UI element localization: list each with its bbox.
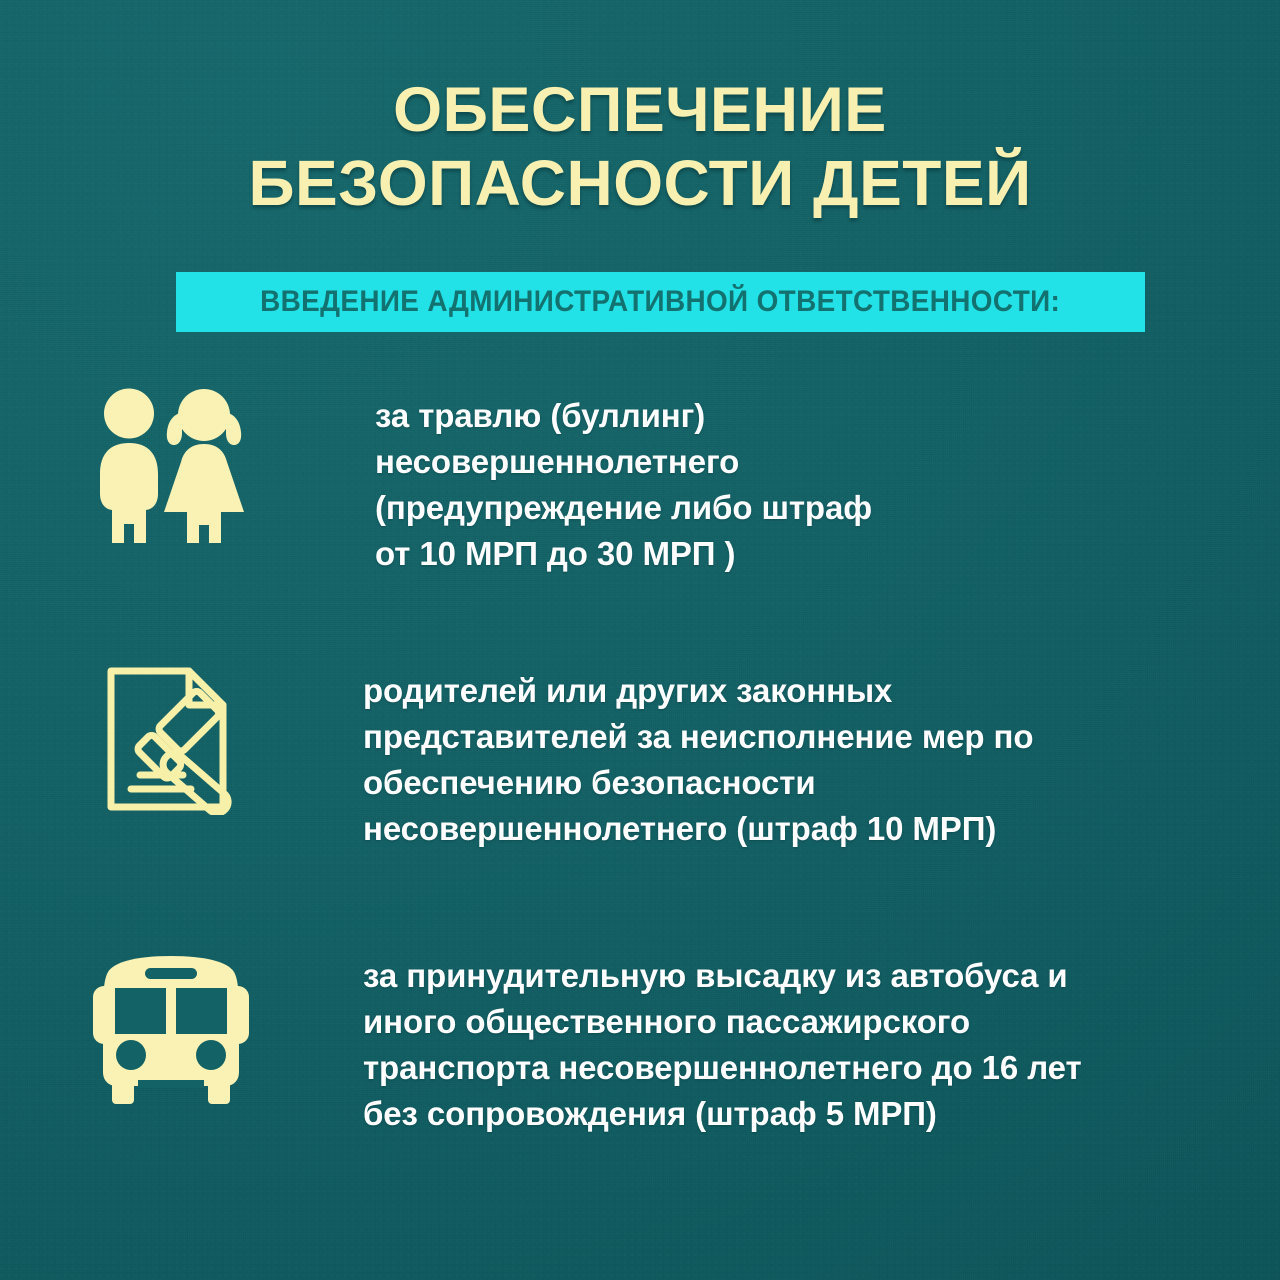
section-banner-label: ВВЕДЕНИЕ АДМИНИСТРАТИВНОЙ ОТВЕТСТВЕННОСТ… xyxy=(260,285,1060,319)
item-1-line-3: (предупреждение либо штраф xyxy=(375,485,872,531)
page-title-line-1: ОБЕСПЕЧЕНИЕ xyxy=(0,74,1280,147)
item-3-line-1: за принудительную высадку из автобуса и xyxy=(363,953,1082,999)
item-2-line-2: представителей за неисполнение мер по xyxy=(363,714,1033,760)
item-3-line-3: транспорта несовершеннолетнего до 16 лет xyxy=(363,1045,1082,1091)
section-banner: ВВЕДЕНИЕ АДМИНИСТРАТИВНОЙ ОТВЕТСТВЕННОСТ… xyxy=(176,272,1145,332)
page-title: ОБЕСПЕЧЕНИЕ БЕЗОПАСНОСТИ ДЕТЕЙ xyxy=(0,74,1280,220)
item-3-line-4: без сопровождения (штраф 5 МРП) xyxy=(363,1091,1082,1137)
page-title-line-2: БЕЗОПАСНОСТИ ДЕТЕЙ xyxy=(0,147,1280,220)
children-boy-girl-icon xyxy=(92,388,254,549)
item-2-line-3: обеспечению безопасности xyxy=(363,760,1033,806)
item-3-text: за принудительную высадку из автобуса и … xyxy=(363,953,1082,1137)
item-1-line-4: от 10 МРП до 30 МРП ) xyxy=(375,531,872,577)
item-3-line-2: иного общественного пассажирского xyxy=(363,999,1082,1045)
poster-canvas: ОБЕСПЕЧЕНИЕ БЕЗОПАСНОСТИ ДЕТЕЙ ВВЕДЕНИЕ … xyxy=(0,0,1280,1280)
document-gavel-icon xyxy=(103,663,253,820)
item-1-line-1: за травлю (буллинг) xyxy=(375,393,872,439)
item-2-text: родителей или других законных представит… xyxy=(363,668,1033,852)
item-1-text: за травлю (буллинг) несовершеннолетнего … xyxy=(375,393,872,577)
bus-front-icon xyxy=(90,952,252,1109)
item-2-line-4: несовершеннолетнего (штраф 10 МРП) xyxy=(363,806,1033,852)
item-1-line-2: несовершеннолетнего xyxy=(375,439,872,485)
item-2-line-1: родителей или других законных xyxy=(363,668,1033,714)
